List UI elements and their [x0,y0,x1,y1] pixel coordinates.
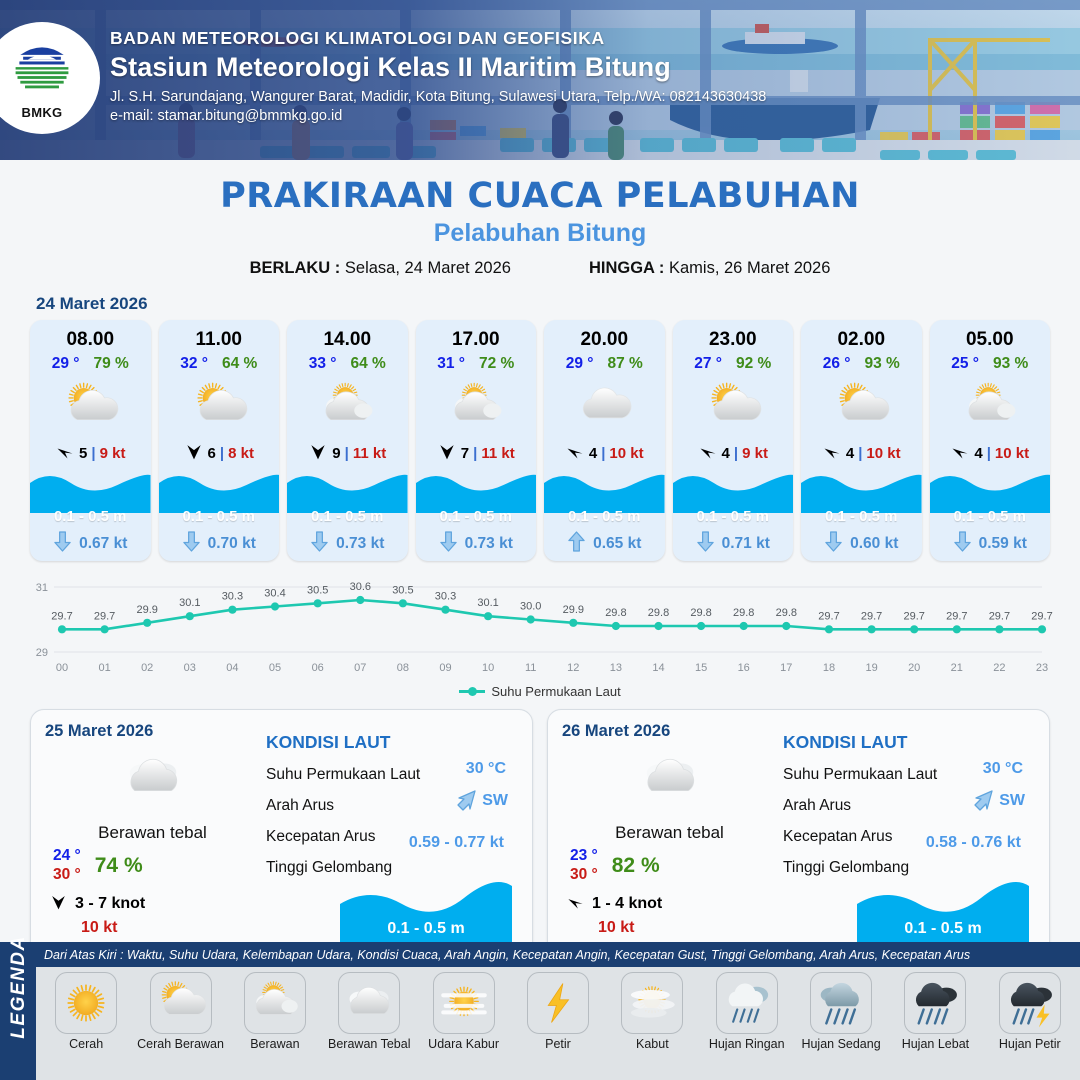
current-speed: 0.71 kt [722,535,770,553]
header: BMKG BADAN METEOROLOGI KLIMATOLOGI DAN G… [0,0,1080,160]
card-time: 14.00 [287,320,408,351]
card-time: 20.00 [544,320,665,351]
legend-item: Hujan Sedang [795,972,887,1051]
card-current-row: 0.73 kt [287,527,408,561]
svg-text:16: 16 [738,662,750,674]
wind-direction-arrow-icon [184,441,204,465]
legend-item: Berawan Tebal [323,972,415,1051]
card-temp-hum: 31 ° 72 % [416,355,537,373]
daily-panel: 26 Maret 2026 Berawan tebal 23 ° 30 ° 82… [547,709,1050,959]
legend-bar: LEGENDA Dari Atas Kiri : Waktu, Suhu Uda… [0,942,1080,1080]
card-temperature: 29 ° [52,355,80,373]
card-wind-row: 7 | 11 kt [416,441,537,465]
card-humidity: 79 % [93,355,128,373]
svg-text:30.0: 30.0 [520,601,541,613]
wind-direction-arrow-icon [55,441,75,465]
card-wave: 0.1 - 0.5 m [544,467,665,527]
chart-legend-label: Suhu Permukaan Laut [491,684,620,699]
legend-item: Udara Kabur [417,972,509,1051]
wave-height: 0.1 - 0.5 m [673,508,794,525]
daily-temp-range: 24 ° 30 ° [53,847,81,885]
wave-icon [30,467,151,513]
current-speed: 0.59 kt [979,535,1027,553]
card-humidity: 64 % [222,355,257,373]
svg-text:13: 13 [610,662,622,674]
svg-text:09: 09 [439,662,451,674]
current-speed: 0.65 kt [593,535,641,553]
svg-text:30.3: 30.3 [435,591,456,603]
hourly-card: 23.00 27 ° 92 % 4 | 9 kt 0.1 - 0.5 m [673,320,794,561]
card-temp-hum: 29 ° 79 % [30,355,151,373]
wind-speed: 9 [332,445,340,462]
card-humidity: 93 % [993,355,1028,373]
svg-text:29.7: 29.7 [51,610,72,622]
daily-wave-graphic: 0.1 - 0.5 m [857,882,1029,944]
svg-text:23: 23 [1036,662,1048,674]
svg-text:20: 20 [908,662,920,674]
berlaku: BERLAKU : Selasa, 24 Maret 2026 [250,259,511,278]
legend-marker-icon [459,690,485,693]
svg-text:30.3: 30.3 [222,591,243,603]
daily-temp-range: 23 ° 30 ° [570,847,598,885]
station-email: e-mail: stamar.bitung@bmmkg.go.id [110,108,766,124]
legend-item-label: Cerah [69,1037,103,1051]
daily-date: 26 Maret 2026 [562,722,777,741]
current-dir-value: SW [999,792,1025,810]
daily-left: 25 Maret 2026 Berawan tebal 24 ° 30 ° 74… [45,722,260,948]
weather-cloudy-thick-icon [45,747,260,809]
gust-speed: 11 kt [353,445,386,462]
card-wave: 0.1 - 0.5 m [159,467,280,527]
svg-text:30.1: 30.1 [477,597,498,609]
wave-height: 0.1 - 0.5 m [159,508,280,525]
wave-icon [287,467,408,513]
wind-separator: | [601,445,605,462]
legend-item-label: Hujan Petir [999,1037,1061,1051]
weather-cloudy-sun-icon [287,376,408,438]
wave-height-label: Tinggi Gelombang [783,859,1035,877]
card-temperature: 25 ° [951,355,979,373]
weather-cloudy-thick-icon [338,972,400,1034]
card-time: 11.00 [159,320,280,351]
weather-cloudy-sun-icon [416,376,537,438]
gust-speed: 8 kt [228,445,254,462]
agency-name: BADAN METEOROLOGI KLIMATOLOGI DAN GEOFIS… [110,28,766,49]
current-direction-arrow-icon [53,530,72,558]
current-direction-arrow-icon [567,530,586,558]
daily-date: 25 Maret 2026 [45,722,260,741]
weather-fog-icon [621,972,683,1034]
legend-item: Cerah [40,972,132,1051]
card-time: 02.00 [801,320,922,351]
weather-cloudy-icon [544,376,665,438]
svg-text:29.8: 29.8 [648,607,669,619]
wind-direction-arrow-icon [49,892,68,916]
card-humidity: 92 % [736,355,771,373]
wave-height: 0.1 - 0.5 m [416,508,537,525]
wind-direction-arrow-icon [437,441,457,465]
legend-side: LEGENDA [0,942,36,1080]
svg-text:18: 18 [823,662,835,674]
legend-item-label: Udara Kabur [428,1037,499,1051]
legend-item: Hujan Petir [984,972,1076,1051]
sst-value: 30 °C [466,760,506,778]
daily-gust: 10 kt [562,919,777,937]
wind-speed: 6 [208,445,216,462]
card-current-row: 0.71 kt [673,527,794,561]
card-temperature: 33 ° [309,355,337,373]
daily-sea-conditions: KONDISI LAUT Suhu Permukaan Laut Arah Ar… [777,722,1035,948]
svg-text:29.7: 29.7 [903,610,924,622]
card-temp-hum: 26 ° 93 % [801,355,922,373]
title-block: PRAKIRAAN CUACA PELABUHAN Pelabuhan Bitu… [0,160,1080,278]
current-speed: 0.70 kt [208,535,256,553]
svg-text:29.7: 29.7 [818,610,839,622]
svg-text:06: 06 [312,662,324,674]
wind-separator: | [220,445,224,462]
wind-direction-arrow-icon [698,441,718,465]
gust-speed: 9 kt [742,445,768,462]
wind-direction-arrow-icon [565,441,585,465]
weather-rain-light-icon [716,972,778,1034]
sea-conditions-title: KONDISI LAUT [783,732,1035,753]
station-address: Jl. S.H. Sarundajang, Wangurer Barat, Ma… [110,89,766,105]
daily-temp-max: 30 ° [570,866,598,885]
card-wave: 0.1 - 0.5 m [30,467,151,527]
legend-item-label: Petir [545,1037,571,1051]
card-temperature: 29 ° [566,355,594,373]
sst-chart-svg: 312929.70029.70129.90230.10330.30430.405… [20,575,1060,680]
wave-icon [801,467,922,513]
wind-direction-arrow-icon [950,441,970,465]
svg-text:08: 08 [397,662,409,674]
svg-text:29.7: 29.7 [989,610,1010,622]
hourly-day-label: 24 Maret 2026 [36,294,1080,314]
legend-item-label: Hujan Sedang [801,1037,880,1051]
wave-height: 0.1 - 0.5 m [287,508,408,525]
wave-height: 0.1 - 0.5 m [30,508,151,525]
weather-lightning-icon [527,972,589,1034]
wind-speed: 5 [79,445,87,462]
card-temp-hum: 29 ° 87 % [544,355,665,373]
wind-speed: 7 [461,445,469,462]
svg-text:07: 07 [354,662,366,674]
legend-item: Petir [512,972,604,1051]
validity-row: BERLAKU : Selasa, 24 Maret 2026 HINGGA :… [0,259,1080,278]
card-humidity: 72 % [479,355,514,373]
legend-item: Kabut [606,972,698,1051]
weather-haze-icon [433,972,495,1034]
chart-legend: Suhu Permukaan Laut [0,684,1080,699]
weather-sun-cloud-icon [30,376,151,438]
svg-text:29: 29 [36,647,48,659]
sst-chart: 312929.70029.70129.90230.10330.30430.405… [20,575,1060,680]
svg-text:12: 12 [567,662,579,674]
daily-wave-graphic: 0.1 - 0.5 m [340,882,512,944]
hourly-card: 08.00 29 ° 79 % 5 | 9 kt 0.1 - 0.5 m [30,320,151,561]
card-time: 08.00 [30,320,151,351]
weather-cloudy-sun-icon [930,376,1051,438]
daily-temp-min: 23 ° [570,847,598,866]
wind-speed: 4 [974,445,982,462]
hingga-value: Kamis, 26 Maret 2026 [669,259,830,277]
svg-text:30.6: 30.6 [350,581,371,593]
station-name: Stasiun Meteorologi Kelas II Maritim Bit… [110,52,766,83]
current-direction-arrow-icon [182,530,201,558]
card-wind-row: 4 | 9 kt [673,441,794,465]
card-temperature: 31 ° [437,355,465,373]
svg-text:29.9: 29.9 [136,604,157,616]
daily-left: 26 Maret 2026 Berawan tebal 23 ° 30 ° 82… [562,722,777,948]
svg-text:01: 01 [98,662,110,674]
daily-temps: 23 ° 30 ° 82 % [562,847,777,885]
wind-separator: | [858,445,862,462]
current-direction-arrow-icon [439,530,458,558]
svg-text:15: 15 [695,662,707,674]
card-temperature: 27 ° [694,355,722,373]
legend-item-label: Berawan [250,1037,299,1051]
wave-icon [930,467,1051,513]
legend-item: Berawan [229,972,321,1051]
daily-humidity: 82 % [612,854,660,878]
card-wind-row: 6 | 8 kt [159,441,280,465]
card-current-row: 0.67 kt [30,527,151,561]
wave-icon [673,467,794,513]
header-text-block: BADAN METEOROLOGI KLIMATOLOGI DAN GEOFIS… [110,28,766,124]
hourly-card: 02.00 26 ° 93 % 4 | 10 kt 0.1 - 0.5 m [801,320,922,561]
daily-sea-conditions: KONDISI LAUT Suhu Permukaan Laut Arah Ar… [260,722,518,948]
bmkg-logo-icon [5,36,79,102]
wind-speed: 4 [722,445,730,462]
card-humidity: 87 % [607,355,642,373]
current-speed: 0.67 kt [79,535,127,553]
daily-humidity: 74 % [95,854,143,878]
legend-item-label: Kabut [636,1037,669,1051]
weather-sun-icon [55,972,117,1034]
wind-direction-arrow-icon [308,441,328,465]
card-wind-row: 5 | 9 kt [30,441,151,465]
card-wave: 0.1 - 0.5 m [801,467,922,527]
svg-text:29.8: 29.8 [733,607,754,619]
card-temperature: 32 ° [180,355,208,373]
daily-wind-speed: 1 - 4 knot [592,895,662,913]
card-time: 23.00 [673,320,794,351]
current-direction-arrow-icon [953,530,972,558]
daily-wind: 1 - 4 knot [562,892,777,916]
current-direction-arrow-icon [310,530,329,558]
daily-panels: 25 Maret 2026 Berawan tebal 24 ° 30 ° 74… [0,699,1080,959]
svg-text:05: 05 [269,662,281,674]
svg-text:29.9: 29.9 [563,604,584,616]
legend-item-label: Cerah Berawan [137,1037,224,1051]
svg-text:17: 17 [780,662,792,674]
legend-items: Cerah Cerah Berawan Berawan [36,967,1080,1080]
card-wind-row: 9 | 11 kt [287,441,408,465]
card-wind-row: 4 | 10 kt [930,441,1051,465]
sst-value: 30 °C [983,760,1023,778]
card-time: 17.00 [416,320,537,351]
svg-text:29.7: 29.7 [946,610,967,622]
svg-text:29.7: 29.7 [94,610,115,622]
wave-height: 0.1 - 0.5 m [544,508,665,525]
svg-text:19: 19 [865,662,877,674]
legend-item-label: Hujan Lebat [902,1037,969,1051]
wind-direction-arrow-icon [566,892,585,916]
gust-speed: 10 kt [609,445,643,462]
daily-temps: 24 ° 30 ° 74 % [45,847,260,885]
legend-note: Dari Atas Kiri : Waktu, Suhu Udara, Kele… [36,942,1080,967]
weather-cloudy-sun-icon [244,972,306,1034]
legend-item: Cerah Berawan [134,972,226,1051]
daily-temp-min: 24 ° [53,847,81,866]
legend-item-label: Hujan Ringan [709,1037,785,1051]
card-current-row: 0.65 kt [544,527,665,561]
svg-text:29.7: 29.7 [1031,610,1052,622]
card-temp-hum: 33 ° 64 % [287,355,408,373]
wave-height-label: Tinggi Gelombang [266,859,518,877]
svg-text:10: 10 [482,662,494,674]
svg-text:02: 02 [141,662,153,674]
current-dir-value-group: SW [966,788,1025,814]
card-wave: 0.1 - 0.5 m [930,467,1051,527]
current-speed: 0.73 kt [336,535,384,553]
card-wind-row: 4 | 10 kt [801,441,922,465]
svg-text:04: 04 [226,662,238,674]
forecast-poster: BMKG BADAN METEOROLOGI KLIMATOLOGI DAN G… [0,0,1080,1080]
bmkg-logo-text: BMKG [5,105,79,120]
current-direction-sw-arrow-icon [449,788,479,814]
card-humidity: 93 % [864,355,899,373]
card-temp-hum: 25 ° 93 % [930,355,1051,373]
gust-speed: 10 kt [866,445,900,462]
weather-sun-cloud-icon [673,376,794,438]
page-subtitle: Pelabuhan Bitung [0,219,1080,248]
svg-text:31: 31 [36,582,48,594]
wind-separator: | [91,445,95,462]
wave-icon [416,467,537,513]
svg-text:30.4: 30.4 [264,588,285,600]
wave-height: 0.1 - 0.5 m [930,508,1051,525]
current-dir-value-group: SW [449,788,508,814]
wind-separator: | [345,445,349,462]
daily-gust: 10 kt [45,919,260,937]
page-title: PRAKIRAAN CUACA PELABUHAN [0,176,1080,216]
wind-speed: 4 [846,445,854,462]
wind-separator: | [473,445,477,462]
wind-speed: 4 [589,445,597,462]
current-speed: 0.60 kt [850,535,898,553]
legend-body: Dari Atas Kiri : Waktu, Suhu Udara, Kele… [36,942,1080,1080]
current-direction-arrow-icon [696,530,715,558]
legend-item: Hujan Ringan [701,972,793,1051]
svg-text:21: 21 [951,662,963,674]
hingga: HINGGA : Kamis, 26 Maret 2026 [589,259,830,278]
weather-rain-heavy-icon [904,972,966,1034]
weather-sun-cloud-icon [801,376,922,438]
daily-wave-value: 0.1 - 0.5 m [857,920,1029,938]
hourly-card: 05.00 25 ° 93 % 4 | 10 kt 0.1 - 0.5 m [930,320,1051,561]
svg-text:14: 14 [652,662,664,674]
current-direction-sw-arrow-icon [966,788,996,814]
svg-text:29.8: 29.8 [690,607,711,619]
card-temp-hum: 27 ° 92 % [673,355,794,373]
daily-condition: Berawan tebal [45,823,260,843]
daily-panel: 25 Maret 2026 Berawan tebal 24 ° 30 ° 74… [30,709,533,959]
svg-text:03: 03 [184,662,196,674]
svg-text:30.1: 30.1 [179,597,200,609]
weather-rain-moderate-icon [810,972,872,1034]
legend-side-label: LEGENDA [8,932,30,1042]
daily-wind: 3 - 7 knot [45,892,260,916]
sea-conditions-title: KONDISI LAUT [266,732,518,753]
hourly-card: 11.00 32 ° 64 % 6 | 8 kt 0.1 - 0.5 m [159,320,280,561]
svg-text:29.7: 29.7 [861,610,882,622]
current-dir-value: SW [482,792,508,810]
card-humidity: 64 % [350,355,385,373]
weather-rain-thunder-icon [999,972,1061,1034]
svg-text:00: 00 [56,662,68,674]
weather-sun-cloud-icon [159,376,280,438]
wave-icon [159,467,280,513]
card-current-row: 0.73 kt [416,527,537,561]
hourly-card: 17.00 31 ° 72 % 7 | 11 kt 0.1 - 0.5 m [416,320,537,561]
svg-text:30.5: 30.5 [392,584,413,596]
hingga-label: HINGGA : [589,259,664,277]
legend-item-label: Berawan Tebal [328,1037,410,1051]
svg-text:22: 22 [993,662,1005,674]
wave-icon [544,467,665,513]
gust-speed: 9 kt [100,445,126,462]
card-time: 05.00 [930,320,1051,351]
svg-text:11: 11 [525,662,536,674]
card-temperature: 26 ° [823,355,851,373]
weather-sun-cloud-icon [150,972,212,1034]
hourly-card: 20.00 29 ° 87 % 4 | 10 kt 0.1 - 0.5 m [544,320,665,561]
current-speed-value: 0.58 - 0.76 kt [926,834,1021,852]
card-wave: 0.1 - 0.5 m [287,467,408,527]
card-current-row: 0.70 kt [159,527,280,561]
current-speed: 0.73 kt [465,535,513,553]
wind-separator: | [987,445,991,462]
wind-direction-arrow-icon [822,441,842,465]
current-speed-value: 0.59 - 0.77 kt [409,834,504,852]
svg-text:29.8: 29.8 [776,607,797,619]
daily-wave-value: 0.1 - 0.5 m [340,920,512,938]
card-current-row: 0.60 kt [801,527,922,561]
svg-text:29.8: 29.8 [605,607,626,619]
card-wind-row: 4 | 10 kt [544,441,665,465]
wind-separator: | [734,445,738,462]
daily-temp-max: 30 ° [53,866,81,885]
legend-item: Hujan Lebat [889,972,981,1051]
svg-text:30.5: 30.5 [307,584,328,596]
card-current-row: 0.59 kt [930,527,1051,561]
current-direction-arrow-icon [824,530,843,558]
card-wave: 0.1 - 0.5 m [416,467,537,527]
card-wave: 0.1 - 0.5 m [673,467,794,527]
gust-speed: 10 kt [995,445,1029,462]
berlaku-label: BERLAKU : [250,259,341,277]
hourly-card: 14.00 33 ° 64 % 9 | 11 kt 0.1 - 0.5 m [287,320,408,561]
daily-wind-speed: 3 - 7 knot [75,895,145,913]
daily-condition: Berawan tebal [562,823,777,843]
berlaku-value: Selasa, 24 Maret 2026 [345,259,511,277]
wave-height: 0.1 - 0.5 m [801,508,922,525]
weather-cloudy-thick-icon [562,747,777,809]
card-temp-hum: 32 ° 64 % [159,355,280,373]
hourly-cards: 08.00 29 ° 79 % 5 | 9 kt 0.1 - 0.5 m [0,320,1080,561]
gust-speed: 11 kt [481,445,514,462]
